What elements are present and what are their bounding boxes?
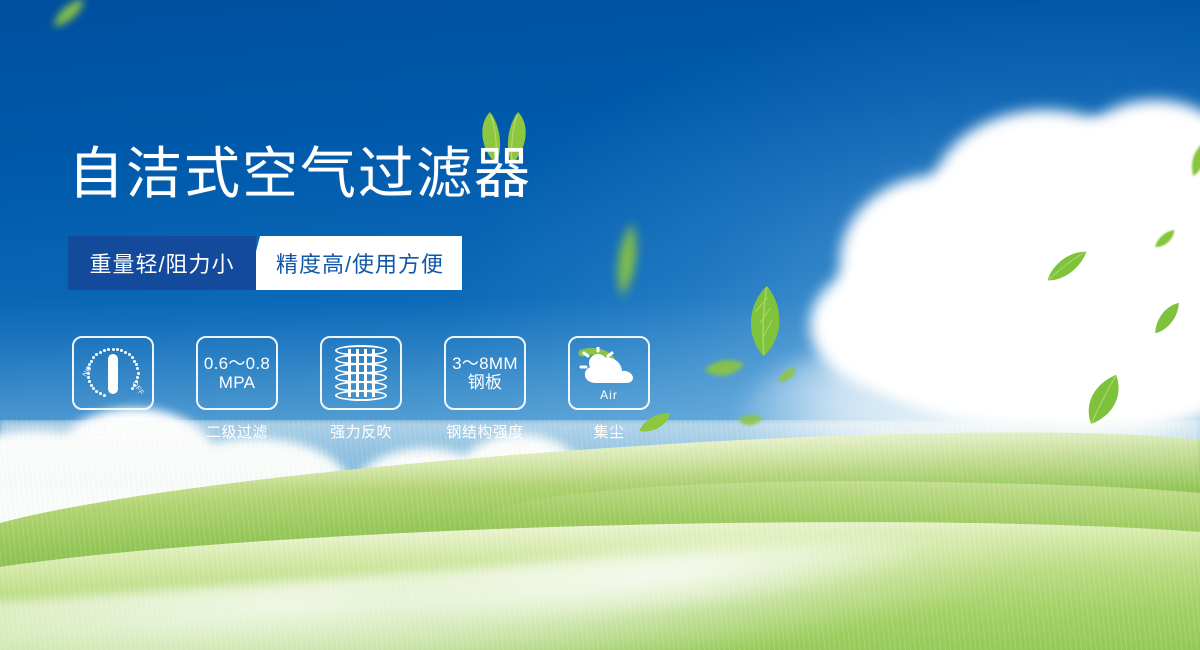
gauge-tick-dot xyxy=(99,351,102,354)
feature-item-backblow[interactable]: 强力反吹 xyxy=(320,336,402,442)
gauge-tick-dot xyxy=(90,384,93,387)
gauge-tick-dot xyxy=(136,367,139,370)
gauge-tick-dot xyxy=(116,348,119,351)
gauge-tick-dot xyxy=(137,372,140,375)
page-title: 自洁式空气过滤器 xyxy=(68,146,532,202)
gauge-tick-dot xyxy=(95,390,98,393)
feature-icon-box xyxy=(320,336,402,410)
feature-label: 二级过滤 xyxy=(206,421,268,442)
feature-item-controller[interactable]: NO OFF 控制仪 xyxy=(72,336,154,442)
gauge-tick-dot xyxy=(135,380,138,383)
feature-label: 强力反吹 xyxy=(330,421,392,442)
gauge-tick-dot xyxy=(107,348,110,351)
gauge-tick-dot xyxy=(120,349,123,352)
feature-label: 钢结构强度 xyxy=(446,421,524,442)
steel-text-icon: 3～8MM 钢板 xyxy=(452,354,518,392)
gauge-tick-dot xyxy=(87,376,90,379)
gauge-tick-dot xyxy=(136,376,139,379)
gauge-tick-dot xyxy=(124,351,127,354)
feature-list: NO OFF 控制仪 0.6～0.8 MPA 二级过滤 xyxy=(72,336,650,442)
gauge-tick-dot xyxy=(103,394,106,397)
feature-icon-box: 3～8MM 钢板 xyxy=(444,336,526,410)
subtitle-bar: 重量轻/阻力小 精度高/使用方便 xyxy=(68,236,462,290)
gauge-tick-dot xyxy=(90,360,93,363)
subtitle-left-panel: 重量轻/阻力小 xyxy=(68,236,256,290)
gauge-tick-dot xyxy=(87,372,90,375)
gauge-icon: NO OFF xyxy=(82,345,144,401)
feature-item-steel[interactable]: 3～8MM 钢板 钢结构强度 xyxy=(444,336,526,442)
gauge-tick-dot xyxy=(95,353,98,356)
gauge-tick-dot xyxy=(128,353,131,356)
gauge-tick-dot xyxy=(131,356,134,359)
cloud-air-icon: Air xyxy=(578,347,640,399)
gauge-tick-dot xyxy=(112,348,115,351)
subtitle-right-panel: 精度高/使用方便 xyxy=(246,236,462,290)
gauge-tick-dot xyxy=(103,349,106,352)
feature-item-filtration[interactable]: 0.6～0.8 MPA 二级过滤 xyxy=(196,336,278,442)
air-text: Air xyxy=(578,388,640,402)
gauge-tick-dot xyxy=(92,356,95,359)
subtitle-right-text: 精度高/使用方便 xyxy=(276,247,444,279)
cumulus-cloud-right xyxy=(810,100,1200,430)
grass-field xyxy=(0,420,1200,650)
feature-icon-box: NO OFF xyxy=(72,336,154,410)
gauge-tick-dot xyxy=(99,392,102,395)
feature-label: 集尘 xyxy=(593,421,624,442)
gauge-tick-dot xyxy=(131,387,134,390)
feature-icon-box: 0.6～0.8 MPA xyxy=(196,336,278,410)
subtitle-left-text: 重量轻/阻力小 xyxy=(89,247,234,279)
feature-icon-box: Air xyxy=(568,336,650,410)
pressure-text-icon: 0.6～0.8 MPA xyxy=(204,354,270,392)
gauge-tick-dot xyxy=(135,363,138,366)
product-banner: 自洁式空气过滤器 重量轻/阻力小 精度高/使用方便 NO OFF 控制仪 0.6 xyxy=(0,0,1200,650)
coil-icon xyxy=(335,345,387,401)
feature-label: 控制仪 xyxy=(90,421,137,442)
gauge-tick-dot xyxy=(133,384,136,387)
gauge-tick-dot xyxy=(88,380,91,383)
gauge-tick-dot xyxy=(133,360,136,363)
